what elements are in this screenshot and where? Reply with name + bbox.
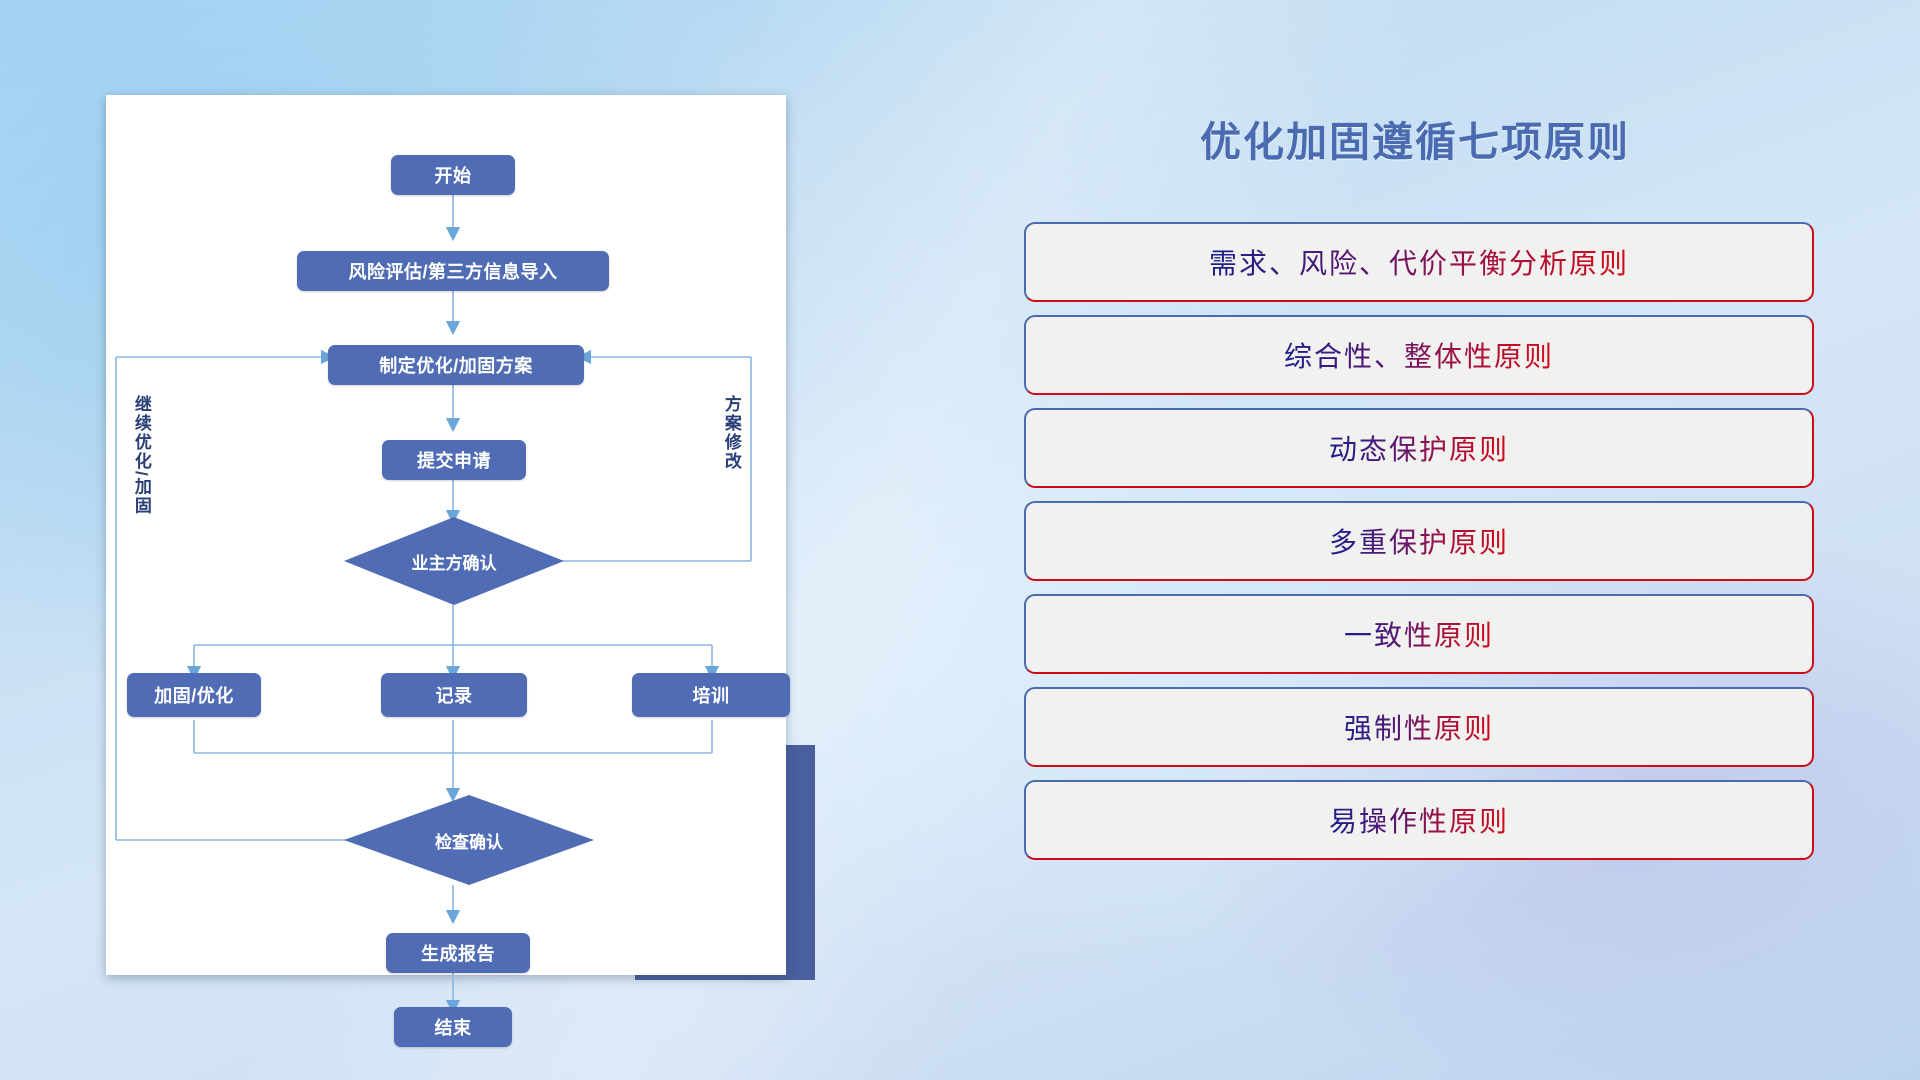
principle-item[interactable]: 需求、风险、代价平衡分析原则 [1024, 222, 1814, 302]
principle-label: 多重保护原则 [1329, 521, 1509, 561]
flow-node-label: 提交申请 [417, 447, 491, 473]
flowchart: 开始 风险评估/第三方信息导入 制定优化/加固方案 提交申请 业主方确认 加固/… [106, 95, 786, 975]
flow-node-end[interactable]: 结束 [394, 1007, 512, 1047]
principle-item[interactable]: 易操作性原则 [1024, 780, 1814, 860]
principle-label: 易操作性原则 [1329, 800, 1509, 840]
flow-node-label: 培训 [693, 682, 730, 708]
flow-node-label: 检查确认 [435, 828, 503, 853]
principle-label: 强制性原则 [1344, 707, 1494, 747]
principle-label: 需求、风险、代价平衡分析原则 [1209, 242, 1629, 282]
panel-title: 优化加固遵循七项原则 [1000, 108, 1830, 168]
flow-node-label: 制定优化/加固方案 [379, 352, 533, 378]
flow-edge-label-right: 方案修改 [722, 395, 740, 525]
flow-node-label: 结束 [435, 1014, 472, 1040]
flow-node-training[interactable]: 培训 [632, 673, 790, 717]
principle-label: 动态保护原则 [1329, 428, 1509, 468]
principle-label: 综合性、整体性原则 [1284, 335, 1554, 375]
flow-node-label: 风险评估/第三方信息导入 [349, 258, 558, 284]
principle-item[interactable]: 一致性原则 [1024, 594, 1814, 674]
flowchart-card: 开始 风险评估/第三方信息导入 制定优化/加固方案 提交申请 业主方确认 加固/… [106, 95, 786, 975]
flow-node-generate-report[interactable]: 生成报告 [386, 933, 530, 973]
principles-list: 需求、风险、代价平衡分析原则 综合性、整体性原则 动态保护原则 多重保护原则 一… [1024, 222, 1814, 873]
flow-node-label: 记录 [436, 682, 473, 708]
principles-panel: 优化加固遵循七项原则 需求、风险、代价平衡分析原则 综合性、整体性原则 动态保护… [1000, 90, 1830, 1010]
flow-node-label: 业主方确认 [412, 549, 497, 574]
flow-node-label: 加固/优化 [154, 682, 234, 708]
flow-node-label: 生成报告 [421, 940, 495, 966]
flow-edge-label-left: 继续优化/加固 [132, 395, 150, 575]
flow-node-start[interactable]: 开始 [391, 155, 515, 195]
principle-item[interactable]: 强制性原则 [1024, 687, 1814, 767]
flow-node-risk-assessment[interactable]: 风险评估/第三方信息导入 [297, 251, 609, 291]
flow-node-label: 开始 [435, 162, 472, 188]
flow-node-reinforce[interactable]: 加固/优化 [127, 673, 261, 717]
flow-node-record[interactable]: 记录 [381, 673, 527, 717]
flow-node-submit[interactable]: 提交申请 [382, 440, 526, 480]
principle-item[interactable]: 动态保护原则 [1024, 408, 1814, 488]
principle-item[interactable]: 综合性、整体性原则 [1024, 315, 1814, 395]
flow-node-plan[interactable]: 制定优化/加固方案 [328, 345, 584, 385]
principle-label: 一致性原则 [1344, 614, 1494, 654]
principle-item[interactable]: 多重保护原则 [1024, 501, 1814, 581]
